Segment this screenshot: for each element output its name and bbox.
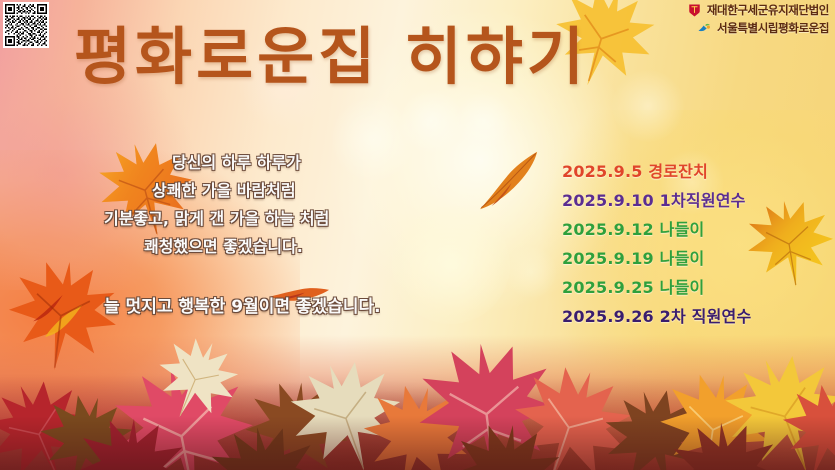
poem-line: 기분좋고, 맑게 갠 가을 하늘 처럼: [104, 211, 434, 227]
leaf-pile-shadow: [0, 416, 835, 470]
seoul-city-bird-icon: [697, 21, 712, 36]
poem-block: 당신의 하루 하루가 상쾌한 가을 바람처럼 기분좋고, 맑게 갠 가을 하늘 …: [104, 155, 434, 316]
poem-line: 쾌청했으면 좋겠습니다.: [104, 239, 434, 255]
schedule-item: 2025.9.12 나들이: [562, 222, 751, 238]
page-title: 평화로운집 히햐기: [74, 26, 588, 88]
schedule-item: 2025.9.10 1차직원연수: [562, 193, 751, 209]
autumn-leaf-pile: [0, 335, 835, 470]
schedule-item: 2025.9.5 경로잔치: [562, 164, 751, 180]
salvation-army-shield-icon: [687, 3, 702, 18]
schedule-item: 2025.9.19 나들이: [562, 251, 751, 267]
poem-line: 당신의 하루 하루가: [104, 155, 434, 171]
pile-leaf: [148, 337, 244, 423]
organization-logos: 재대한구세군유지재단법인 서울특별시립평화로운집: [687, 2, 829, 36]
logo-salvation-army-label: 재대한구세군유지재단법인: [707, 2, 829, 18]
logo-salvation-army: 재대한구세군유지재단법인: [687, 2, 829, 18]
poem-line: 늘 멋지고 행복한 9월이면 좋겠습니다.: [104, 299, 434, 316]
schedule-list: 2025.9.5 경로잔치 2025.9.10 1차직원연수 2025.9.12…: [562, 164, 751, 338]
poster-canvas: 재대한구세군유지재단법인 서울특별시립평화로운집: [0, 0, 835, 470]
qr-code[interactable]: [3, 2, 49, 48]
logo-seoul-city: 서울특별시립평화로운집: [697, 20, 829, 36]
poem-line: 상쾌한 가을 바람처럼: [104, 183, 434, 199]
logo-seoul-city-label: 서울특별시립평화로운집: [717, 20, 829, 36]
schedule-item: 2025.9.26 2차 직원연수: [562, 309, 751, 325]
schedule-item: 2025.9.25 나들이: [562, 280, 751, 296]
